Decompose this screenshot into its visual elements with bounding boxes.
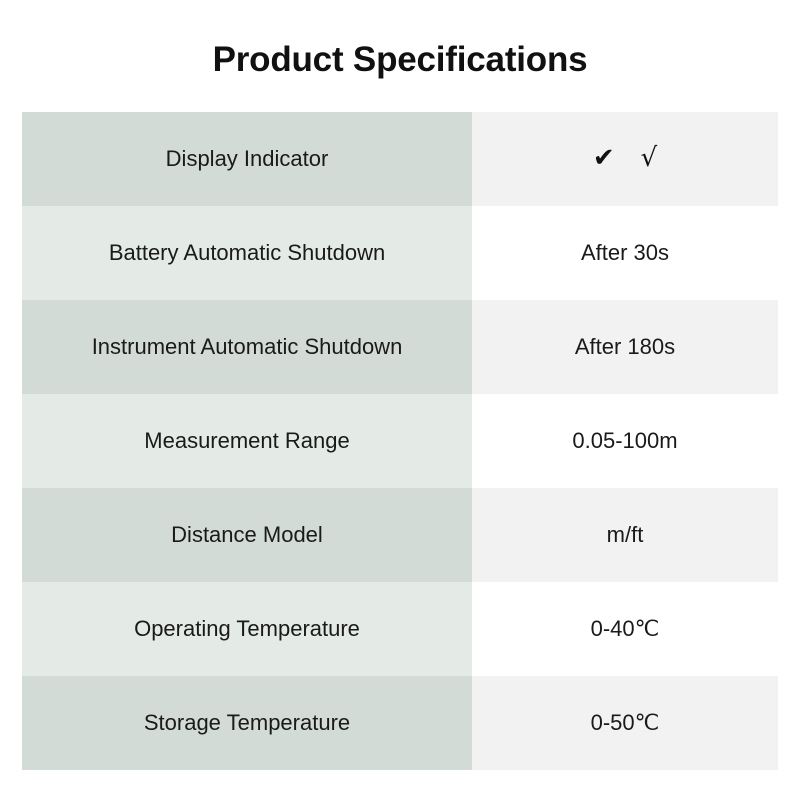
check-light-icon: √	[641, 145, 658, 171]
table-row: Storage Temperature 0-50℃	[22, 676, 778, 770]
product-specifications-page: Product Specifications Display Indicator…	[0, 0, 800, 800]
spec-label-instrument-automatic-shutdown: Instrument Automatic Shutdown	[22, 300, 472, 394]
spec-value-distance-model: m/ft	[472, 488, 778, 582]
spec-label-display-indicator: Display Indicator	[22, 112, 472, 206]
spec-label-measurement-range: Measurement Range	[22, 394, 472, 488]
spec-label-distance-model: Distance Model	[22, 488, 472, 582]
spec-value-instrument-automatic-shutdown: After 180s	[472, 300, 778, 394]
table-row: Display Indicator ✔ √	[22, 112, 778, 206]
spec-value-measurement-range: 0.05-100m	[472, 394, 778, 488]
spec-label-storage-temperature: Storage Temperature	[22, 676, 472, 770]
spec-label-operating-temperature: Operating Temperature	[22, 582, 472, 676]
check-group: ✔ √	[593, 145, 657, 171]
table-row: Measurement Range 0.05-100m	[22, 394, 778, 488]
specifications-table-body: Display Indicator ✔ √ Battery Automatic …	[22, 112, 778, 770]
spec-value-storage-temperature: 0-50℃	[472, 676, 778, 770]
spec-value-battery-automatic-shutdown: After 30s	[472, 206, 778, 300]
table-row: Battery Automatic Shutdown After 30s	[22, 206, 778, 300]
spec-value-display-indicator: ✔ √	[472, 112, 778, 206]
table-row: Operating Temperature 0-40℃	[22, 582, 778, 676]
table-row: Instrument Automatic Shutdown After 180s	[22, 300, 778, 394]
spec-label-battery-automatic-shutdown: Battery Automatic Shutdown	[22, 206, 472, 300]
table-row: Distance Model m/ft	[22, 488, 778, 582]
spec-value-operating-temperature: 0-40℃	[472, 582, 778, 676]
check-heavy-icon: ✔	[593, 145, 615, 171]
specifications-table: Display Indicator ✔ √ Battery Automatic …	[22, 112, 778, 770]
page-title: Product Specifications	[0, 38, 800, 82]
